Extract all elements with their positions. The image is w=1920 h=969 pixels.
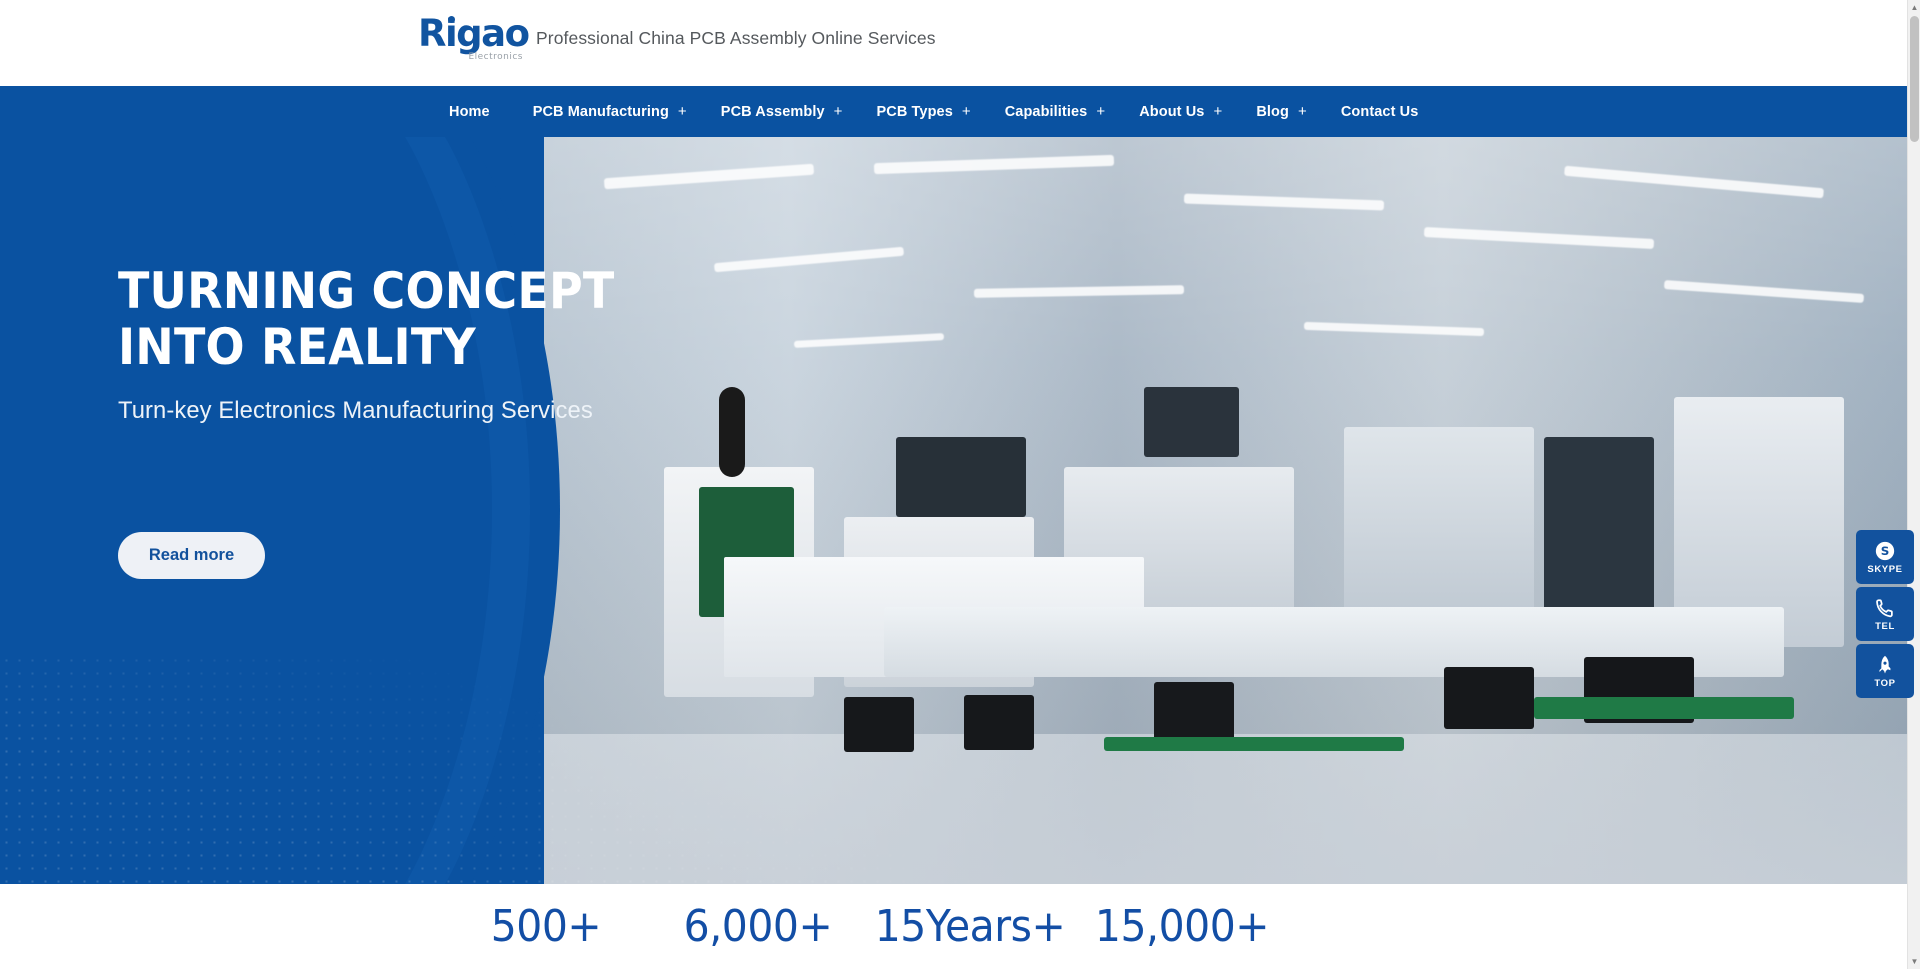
side-button-label: TEL: [1875, 621, 1895, 632]
nav-item-label: PCB Assembly: [721, 104, 825, 120]
side-button-tel[interactable]: TEL: [1856, 587, 1914, 641]
hero-title-line-1: TURNING CONCEPT: [118, 263, 614, 319]
logo-dot-icon: [448, 16, 455, 23]
plus-icon: +: [678, 103, 687, 120]
nav-item-home[interactable]: Home: [432, 86, 516, 137]
side-button-label: SKYPE: [1867, 564, 1902, 575]
site-logo[interactable]: Rigao Electronics: [418, 14, 523, 66]
nav-item-pcb-manufacturing[interactable]: PCB Manufacturing +: [516, 86, 704, 137]
nav-item-blog[interactable]: Blog +: [1239, 86, 1324, 137]
hero-banner: TURNING CONCEPT INTO REALITY Turn-key El…: [0, 137, 1907, 884]
scroll-down-arrow-icon[interactable]: ▼: [1908, 954, 1920, 969]
page-scrollbar[interactable]: ▲ ▼: [1907, 0, 1920, 969]
phone-icon: [1874, 597, 1896, 619]
plus-icon: +: [834, 103, 843, 120]
nav-list: Home PCB Manufacturing + PCB Assembly + …: [0, 86, 1907, 137]
read-more-button[interactable]: Read more: [118, 532, 265, 579]
stat-value: 15,000+: [1083, 901, 1280, 952]
plus-icon: +: [1213, 103, 1222, 120]
nav-item-label: Home: [449, 104, 490, 120]
scroll-up-arrow-icon[interactable]: ▲: [1908, 0, 1920, 15]
stat-value: 6,000+: [659, 901, 856, 952]
plus-icon: +: [962, 103, 971, 120]
skype-icon: S: [1874, 540, 1896, 562]
side-button-top[interactable]: TOP: [1856, 644, 1914, 698]
site-header: Rigao Electronics Professional China PCB…: [0, 0, 1907, 86]
page-root: Rigao Electronics Professional China PCB…: [0, 0, 1920, 969]
hero-blue-overlay: [0, 137, 1010, 884]
hero-subtitle: Turn-key Electronics Manufacturing Servi…: [118, 397, 641, 425]
stat-value: 500+: [447, 901, 644, 952]
nav-item-pcb-types[interactable]: PCB Types +: [859, 86, 987, 137]
main-navigation: Home PCB Manufacturing + PCB Assembly + …: [0, 86, 1907, 137]
scrollbar-thumb[interactable]: [1910, 16, 1919, 142]
floating-contact-widget: S SKYPE TEL TOP: [1856, 530, 1914, 698]
hero-title-line-2: INTO REALITY: [118, 319, 614, 375]
nav-item-contact-us[interactable]: Contact Us: [1324, 86, 1445, 137]
nav-item-label: Contact Us: [1341, 104, 1419, 120]
nav-item-label: Capabilities: [1005, 104, 1088, 120]
nav-item-pcb-assembly[interactable]: PCB Assembly +: [704, 86, 860, 137]
rocket-icon: [1874, 654, 1896, 676]
stats-bar: 500+ 6,000+ 15Years+ 15,000+: [0, 884, 1907, 969]
logo-wordmark: Rigao: [418, 14, 523, 54]
stat-value: 15Years+: [871, 901, 1068, 952]
logo-subtext: Electronics: [468, 52, 523, 62]
side-button-label: TOP: [1874, 678, 1895, 689]
nav-item-capabilities[interactable]: Capabilities +: [988, 86, 1122, 137]
nav-item-label: PCB Manufacturing: [533, 104, 669, 120]
side-button-skype[interactable]: S SKYPE: [1856, 530, 1914, 584]
site-tagline: Professional China PCB Assembly Online S…: [536, 28, 936, 49]
plus-icon: +: [1096, 103, 1105, 120]
nav-item-label: Blog: [1256, 104, 1289, 120]
nav-item-label: PCB Types: [876, 104, 952, 120]
nav-item-about-us[interactable]: About Us +: [1122, 86, 1239, 137]
hero-dot-pattern: [0, 654, 1010, 884]
hero-text-block: TURNING CONCEPT INTO REALITY Turn-key El…: [118, 263, 658, 425]
svg-text:S: S: [1881, 544, 1890, 558]
plus-icon: +: [1298, 103, 1307, 120]
nav-item-label: About Us: [1139, 104, 1204, 120]
